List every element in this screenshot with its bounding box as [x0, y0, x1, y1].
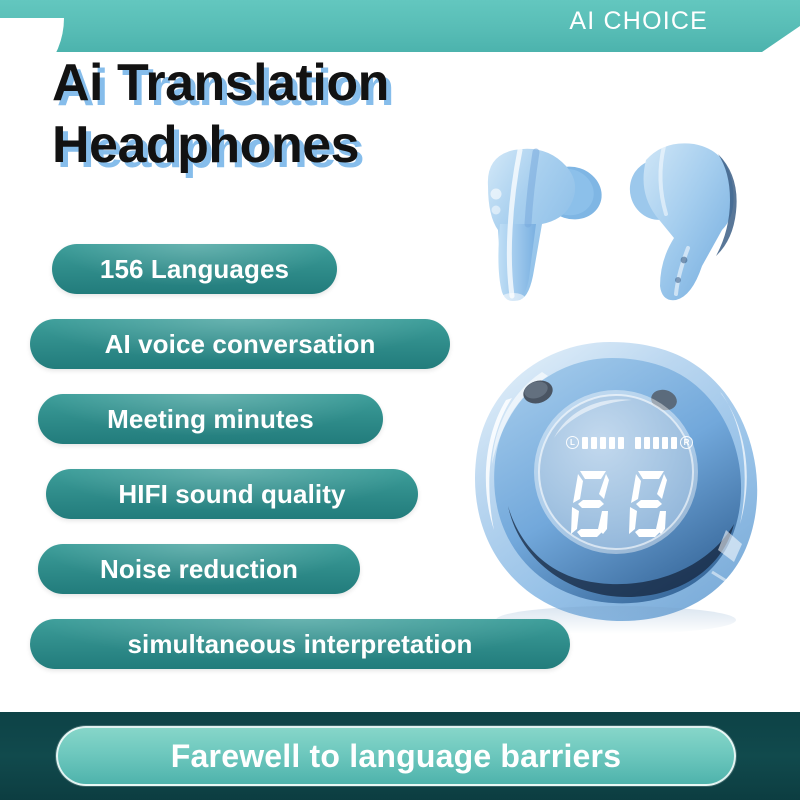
- tagline-pill[interactable]: Farewell to language barriers: [56, 726, 736, 786]
- title-line-1: Ai Translation: [52, 52, 532, 114]
- tagline-label: Farewell to language barriers: [171, 738, 621, 775]
- left-earbud: [488, 149, 609, 303]
- feature-pill[interactable]: 156 Languages: [52, 244, 337, 294]
- seven-segment-digit-ones: [626, 468, 672, 540]
- battery-bar-spacer: [627, 437, 632, 449]
- battery-bar: [653, 437, 659, 449]
- feature-label: AI voice conversation: [105, 329, 376, 360]
- seven-segment-digit-tens: [568, 468, 614, 540]
- battery-bar: [662, 437, 668, 449]
- feature-label: 156 Languages: [100, 254, 289, 285]
- feature-label: HIFI sound quality: [118, 479, 345, 510]
- feature-label: Meeting minutes: [107, 404, 314, 435]
- battery-bar: [582, 437, 588, 449]
- feature-pill[interactable]: simultaneous interpretation: [30, 619, 570, 669]
- feature-pill[interactable]: Noise reduction: [38, 544, 360, 594]
- battery-bar: [609, 437, 615, 449]
- feature-pill[interactable]: HIFI sound quality: [46, 469, 418, 519]
- ai-choice-badge: AI CHOICE: [569, 7, 708, 36]
- battery-bar: [644, 437, 650, 449]
- battery-indicator-row: L R: [566, 436, 693, 449]
- earbuds-and-case-illustration: [450, 120, 800, 640]
- feature-pill[interactable]: Meeting minutes: [38, 394, 383, 444]
- product-image: L R: [450, 120, 800, 640]
- feature-label: Noise reduction: [100, 554, 298, 585]
- battery-bar: [618, 437, 624, 449]
- battery-percent-display: [568, 468, 672, 540]
- feature-label: simultaneous interpretation: [127, 629, 472, 660]
- battery-bar: [591, 437, 597, 449]
- feature-pill[interactable]: AI voice conversation: [30, 319, 450, 369]
- left-channel-badge: L: [566, 436, 579, 449]
- battery-bar: [600, 437, 606, 449]
- battery-bar: [671, 437, 677, 449]
- bottom-banner: Farewell to language barriers: [0, 712, 800, 800]
- product-poster: AI CHOICE Ai Translation Headphones: [0, 0, 800, 800]
- right-earbud: [624, 143, 737, 300]
- right-channel-badge: R: [680, 436, 693, 449]
- battery-bar: [635, 437, 641, 449]
